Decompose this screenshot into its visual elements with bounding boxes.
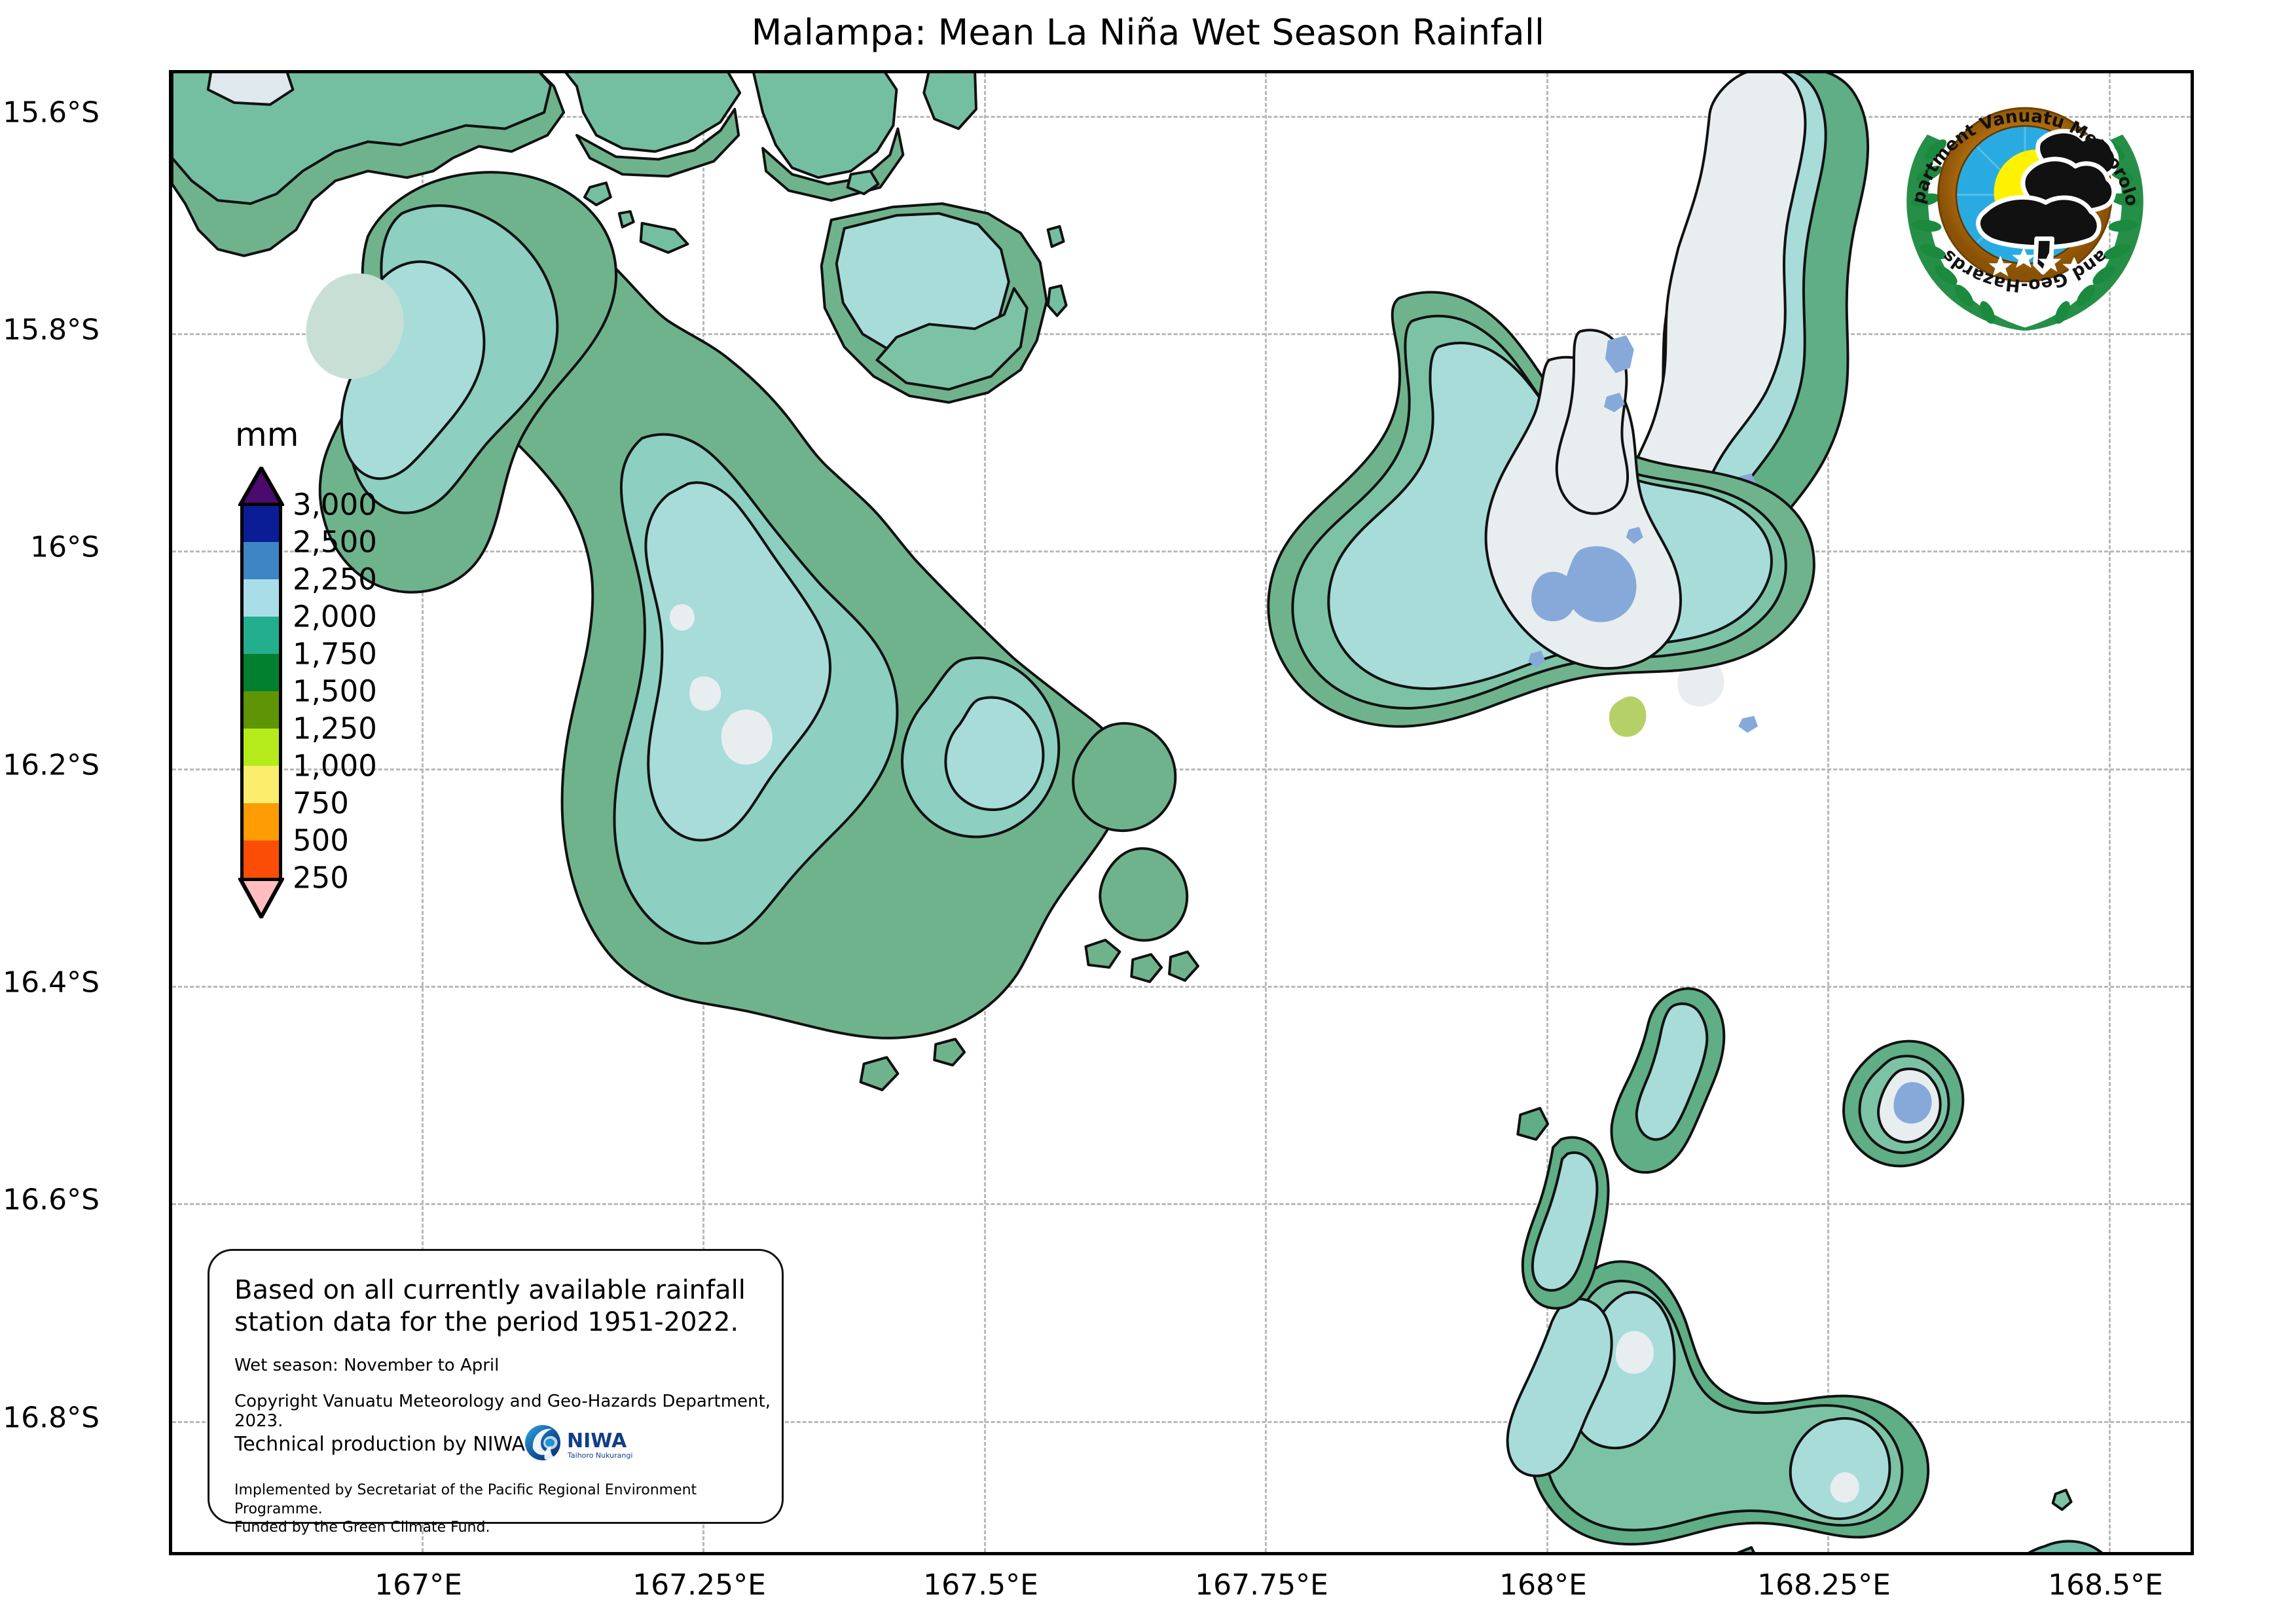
- x-axis-tick-label: 168°E: [1499, 1568, 1587, 1602]
- colorbar-gradient[interactable]: [240, 467, 282, 916]
- island-paama: [1612, 988, 1724, 1172]
- x-axis-tick-label: 167°E: [374, 1568, 462, 1602]
- info-main-text: Based on all currently available rainfal…: [234, 1274, 746, 1339]
- x-axis-tick-label: 168.5°E: [2048, 1568, 2163, 1602]
- colorbar-segment-1000-1250: [240, 729, 282, 766]
- colorbar-segment-2500-3000: [240, 505, 282, 542]
- vmgd-logo: Department Vanuatu Meteorology and Geo-H…: [1887, 70, 2162, 331]
- info-copyright-text: Copyright Vanuatu Meteorology and Geo-Ha…: [234, 1392, 782, 1431]
- colorbar-arrow-bottom: [240, 878, 282, 916]
- y-axis-tick-label: 15.8°S: [3, 314, 100, 347]
- x-axis-tick-label: 167.25°E: [632, 1568, 766, 1602]
- colorbar-unit-label: mm: [235, 416, 299, 454]
- info-production-text: Technical production by NIWA: [234, 1433, 525, 1456]
- island-lopevi: [1844, 1041, 1963, 1166]
- colorbar-tick-label: 500: [293, 823, 349, 858]
- niwa-tagline: Taihoro Nukurangi: [567, 1451, 632, 1460]
- colorbar-segment-1500-1750: [240, 654, 282, 691]
- colorbar-tick-label: 2,500: [293, 525, 377, 560]
- island-malekula: [306, 172, 1198, 1090]
- niwa-wordmark: NIWA: [567, 1430, 627, 1453]
- colorbar-tick-label: 1,250: [293, 712, 377, 746]
- islet-group-east-malo: [1048, 226, 1066, 316]
- colorbar-segment-1250-1500: [240, 691, 282, 729]
- niwa-logo: NIWA Taihoro Nukurangi: [524, 1422, 661, 1463]
- island-epi: [1508, 1108, 2071, 1552]
- y-axis-tick-label: 16.8°S: [3, 1401, 100, 1435]
- colorbar-tick-label: 2,000: [293, 600, 377, 634]
- island-malo: [822, 204, 1047, 403]
- info-funding-text: Implemented by Secretariat of the Pacifi…: [234, 1481, 782, 1538]
- y-axis-tick-label: 15.6°S: [3, 96, 100, 130]
- colorbar-segment-2000-2250: [240, 579, 282, 617]
- colorbar-segment-2250-2500: [240, 542, 282, 579]
- info-box: Based on all currently available rainfal…: [208, 1249, 784, 1524]
- colorbar-tick-label: 2,250: [293, 562, 377, 597]
- island-tongoa: [1999, 1542, 2126, 1552]
- colorbar-segment-500-750: [240, 803, 282, 840]
- colorbar-tick-label: 3,000: [293, 488, 377, 522]
- y-axis-tick-label: 16.4°S: [3, 966, 100, 1000]
- y-axis-tick-label: 16°S: [30, 531, 100, 564]
- x-axis-tick-label: 167.5°E: [923, 1568, 1038, 1602]
- colorbar-tick-label: 1,750: [293, 637, 377, 672]
- colorbar-tick-label: 250: [293, 861, 349, 895]
- colorbar-tick-label: 1,000: [293, 749, 377, 784]
- colorbar-arrow-top: [240, 467, 282, 505]
- x-axis-tick-label: 167.75°E: [1195, 1568, 1328, 1602]
- y-axis-tick-label: 16.2°S: [3, 749, 100, 782]
- colorbar-segment-1750-2000: [240, 617, 282, 654]
- colorbar-tick-label: 1,500: [293, 674, 377, 709]
- colorbar-tick-label: 750: [293, 786, 349, 821]
- x-axis-tick-label: 168.25°E: [1757, 1568, 1891, 1602]
- page-title: Malampa: Mean La Niña Wet Season Rainfal…: [0, 12, 2296, 53]
- map-plot-area[interactable]: mm 3,000 2: [169, 70, 2194, 1555]
- info-wet-season-text: Wet season: November to April: [234, 1356, 499, 1375]
- colorbar-segment-750-1000: [240, 766, 282, 803]
- y-axis-tick-label: 16.6°S: [3, 1183, 100, 1217]
- colorbar-segment-250-500: [240, 840, 282, 878]
